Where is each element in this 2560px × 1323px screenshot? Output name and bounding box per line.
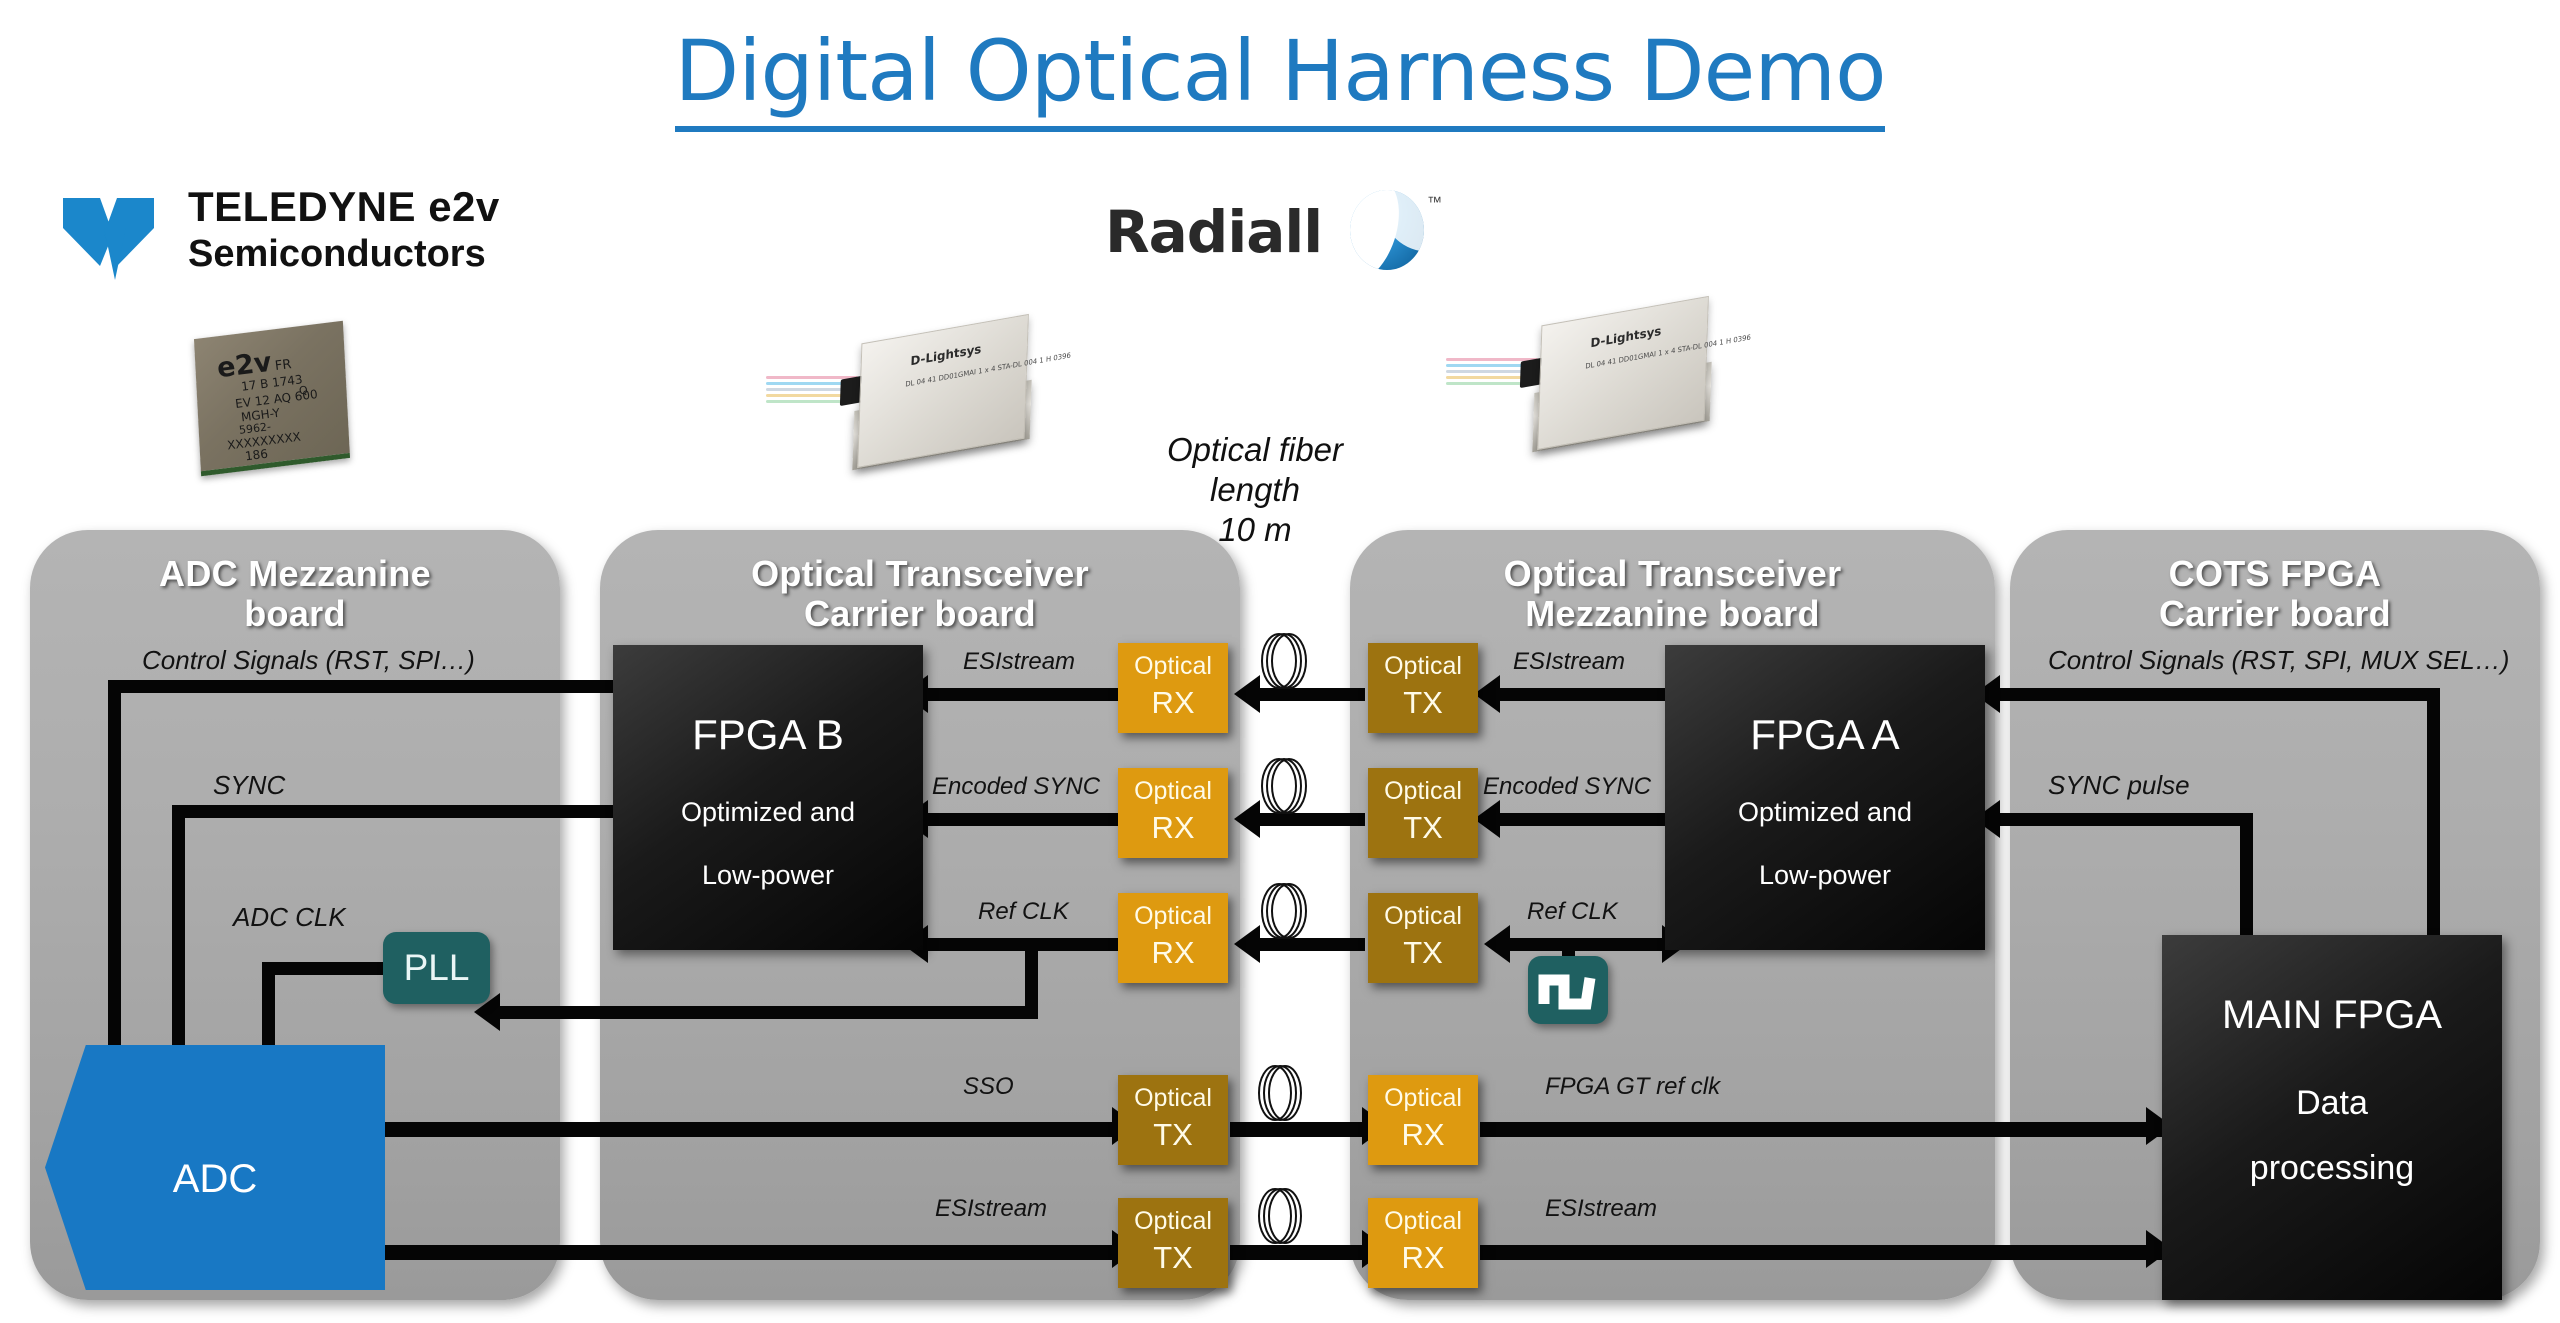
optical-module-rx-esistream[interactable]: Optical RX <box>1368 1198 1478 1288</box>
signal-label-sso: SSO <box>963 1073 1014 1101</box>
main-fpga-sub2: processing <box>2162 1149 2502 1188</box>
signal-label-control-right: Control Signals (RST, SPI, MUX SEL…) <box>2048 645 2509 676</box>
link-fiber-row4 <box>1230 1122 1370 1137</box>
fpga-b-sub1: Optimized and <box>613 797 923 828</box>
optical-module-rx-gt-ref-clk[interactable]: Optical RX <box>1368 1075 1478 1165</box>
optical-module-tx-sso[interactable]: Optical TX <box>1118 1075 1228 1165</box>
block-main-fpga[interactable]: MAIN FPGA Data processing <box>2162 935 2502 1300</box>
board-title-line2: board <box>30 594 560 634</box>
optical-module-line2: RX <box>1368 1241 1478 1275</box>
e2v-adc-chip-photo: e2v FR 17 B 1743 EV 12 AQ 600 Q MGH-Y 59… <box>183 322 363 472</box>
board-title-line1: ADC Mezzanine <box>30 554 560 594</box>
optical-module-tx-esistream[interactable]: Optical TX <box>1118 1198 1228 1288</box>
signal-label-fpga-gt-ref-clk: FPGA GT ref clk <box>1545 1073 1720 1101</box>
d-lightsys-optical-module-photo-right: D-Lightsys DL 04 41 DD01GMAI 1 x 4 STA-D… <box>1480 300 1770 475</box>
board-title: COTS FPGA Carrier board <box>2010 554 2540 634</box>
signal-label-control-left: Control Signals (RST, SPI…) <box>142 645 475 676</box>
fpga-b-sub2: Low-power <box>613 860 923 891</box>
signal-label-sync-pulse: SYNC pulse <box>2048 770 2190 801</box>
pll-label: PLL <box>383 932 490 1004</box>
optical-module-line1: Optical <box>1118 893 1228 936</box>
optical-module-rx-ref-clk[interactable]: Optical RX <box>1118 893 1228 983</box>
signal-label-esistream-a: ESIstream <box>1513 648 1625 676</box>
optical-module-line1: Optical <box>1118 1075 1228 1118</box>
block-fpga-b[interactable]: FPGA B Optimized and Low-power <box>613 645 923 950</box>
link-sync-left <box>172 805 622 818</box>
optical-module-line2: RX <box>1118 811 1228 845</box>
fiber-note-line1: Optical fiber <box>1150 430 1360 470</box>
optical-module-line2: TX <box>1368 811 1478 845</box>
board-title-line2: Carrier board <box>2010 594 2540 634</box>
radiall-sphere-icon <box>1350 190 1424 270</box>
link-sync-down <box>172 805 185 1058</box>
optical-module-line2: RX <box>1118 686 1228 720</box>
link-refclk-to-pll <box>500 1006 1038 1019</box>
link-esistream-adc-to-tx <box>380 1245 1120 1260</box>
link-ctrl-right <box>2000 688 2440 701</box>
optical-module-tx-esistream[interactable]: Optical TX <box>1368 643 1478 733</box>
signal-label-esistream-b: ESIstream <box>963 648 1075 676</box>
optical-module-tx-encoded-sync[interactable]: Optical TX <box>1368 768 1478 858</box>
fpga-a-sub2: Low-power <box>1665 860 1985 891</box>
page-title: Digital Optical Harness Demo <box>0 22 2560 132</box>
fiber-coil-icon <box>1258 880 1320 942</box>
main-fpga-sub1: Data <box>2162 1084 2502 1123</box>
link-ctrl-left-down <box>108 680 121 1058</box>
block-pll[interactable]: PLL <box>383 932 490 1004</box>
board-title-line1: Optical Transceiver <box>1350 554 1995 594</box>
fiber-note-line2: length <box>1150 470 1360 510</box>
trademark-symbol: ™ <box>1427 194 1442 211</box>
optical-module-rx-esistream[interactable]: Optical RX <box>1118 643 1228 733</box>
arrowhead-left <box>1484 925 1510 963</box>
optical-module-line2: TX <box>1368 936 1478 970</box>
optical-module-line1: Optical <box>1368 643 1478 686</box>
main-fpga-title: MAIN FPGA <box>2162 993 2502 1038</box>
signal-label-ref-clk-a: Ref CLK <box>1527 898 1618 926</box>
optical-module-line1: Optical <box>1118 643 1228 686</box>
optical-module-line1: Optical <box>1368 1198 1478 1241</box>
board-title-line1: COTS FPGA <box>2010 554 2540 594</box>
link-syncpulse <box>2000 813 2252 826</box>
board-title-line1: Optical Transceiver <box>600 554 1240 594</box>
link-syncpulse-down <box>2240 813 2253 941</box>
signal-label-adc-clk: ADC CLK <box>233 902 346 933</box>
optical-module-line1: Optical <box>1118 1198 1228 1241</box>
board-title: ADC Mezzanine board <box>30 554 560 634</box>
signal-label-ref-clk-b: Ref CLK <box>978 898 1069 926</box>
link-adcclk-down <box>262 962 275 1057</box>
fiber-length-note: Optical fiber length 10 m <box>1150 430 1360 550</box>
link-esistream-to-mainfpga <box>1480 1245 2180 1260</box>
link-fpgaa-to-tx-row2 <box>1500 813 1680 826</box>
adc-label: ADC <box>45 1157 385 1202</box>
arrowhead-left <box>1234 925 1260 963</box>
signal-label-esistream-bottom-left: ESIstream <box>935 1195 1047 1223</box>
optical-module-line1: Optical <box>1118 768 1228 811</box>
fpga-b-title: FPGA B <box>613 711 923 759</box>
board-title: Optical Transceiver Mezzanine board <box>1350 554 1995 634</box>
optical-module-line2: RX <box>1118 936 1228 970</box>
teledyne-chevron-mark <box>60 188 170 284</box>
fiber-coil-icon <box>1258 630 1320 692</box>
optical-module-line1: Optical <box>1368 1075 1478 1118</box>
fiber-coil-icon <box>1254 1185 1316 1247</box>
board-title: Optical Transceiver Carrier board <box>600 554 1240 634</box>
link-encodedsync-rx-to-fpgab <box>928 813 1118 826</box>
teledyne-wordmark: TELEDYNE e2v Semiconductors <box>188 184 500 276</box>
link-fiber-row5 <box>1230 1245 1370 1260</box>
signal-label-encoded-sync-a: Encoded SYNC <box>1483 773 1651 801</box>
radiall-logo: Radiall ™ <box>1105 198 1465 288</box>
link-ctrl-left <box>108 680 620 693</box>
link-esistream-rx-to-fpgab <box>928 688 1118 701</box>
optical-module-line2: RX <box>1368 1118 1478 1152</box>
fpga-a-sub1: Optimized and <box>1665 797 1985 828</box>
signal-label-sync: SYNC <box>213 770 285 801</box>
board-title-line2: Carrier board <box>600 594 1240 634</box>
optical-module-line1: Optical <box>1368 768 1478 811</box>
block-adc[interactable]: ADC <box>45 1045 385 1290</box>
link-ctrl-right-down <box>2427 688 2440 940</box>
oscillator-icon <box>1528 956 1608 1024</box>
teledyne-chevron-mark <box>205 8 295 90</box>
link-sso-adc-to-tx <box>380 1122 1120 1137</box>
signal-label-encoded-sync-b: Encoded SYNC <box>932 773 1100 801</box>
link-refclk-rx-to-fpgab <box>928 938 1118 951</box>
optical-module-line2: TX <box>1118 1118 1228 1152</box>
teledyne-line1: TELEDYNE e2v <box>188 184 500 230</box>
board-title-line2: Mezzanine board <box>1350 594 1995 634</box>
link-gtrefclk-to-mainfpga <box>1480 1122 2180 1137</box>
radiall-wordmark: Radiall <box>1105 198 1322 266</box>
optical-module-line2: TX <box>1368 686 1478 720</box>
block-fpga-a[interactable]: FPGA A Optimized and Low-power <box>1665 645 1985 950</box>
link-fpgaa-to-tx-row1 <box>1500 688 1680 701</box>
arrowhead-left <box>1234 800 1260 838</box>
signal-label-esistream-bottom-right: ESIstream <box>1545 1195 1657 1223</box>
arrowhead-left <box>1234 675 1260 713</box>
d-lightsys-optical-module-photo-left: D-Lightsys DL 04 41 DD01GMAI 1 x 4 STA-D… <box>800 318 1090 493</box>
page-title-text: Digital Optical Harness Demo <box>675 22 1886 132</box>
fiber-coil-icon <box>1254 1062 1316 1124</box>
optical-module-tx-ref-clk[interactable]: Optical TX <box>1368 893 1478 983</box>
teledyne-line2: Semiconductors <box>188 232 500 276</box>
optical-module-rx-encoded-sync[interactable]: Optical RX <box>1118 768 1228 858</box>
fiber-note-line3: 10 m <box>1150 510 1360 550</box>
optical-module-line2: TX <box>1118 1241 1228 1275</box>
teledyne-e2v-logo: TELEDYNE e2v Semiconductors <box>60 188 530 288</box>
fiber-coil-icon <box>1258 755 1320 817</box>
link-refclk-bidir <box>1510 938 1670 951</box>
fpga-a-title: FPGA A <box>1665 711 1985 759</box>
optical-module-line1: Optical <box>1368 893 1478 936</box>
